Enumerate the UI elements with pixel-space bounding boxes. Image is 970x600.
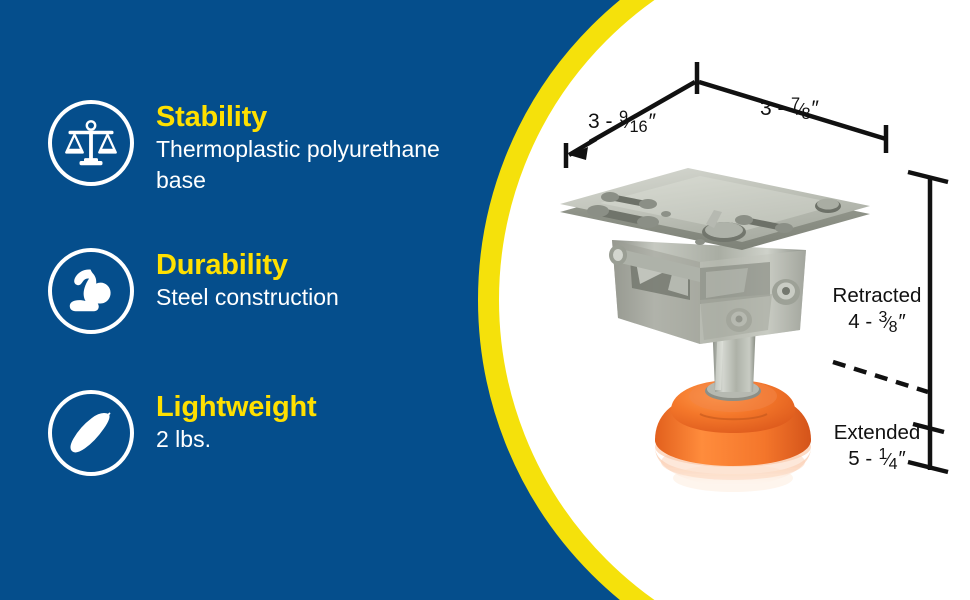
extended-value: 5 - 1⁄4″ (824, 446, 930, 474)
swivel-body (609, 240, 806, 344)
polyurethane-wheel-base (655, 380, 811, 466)
mounting-plate (560, 168, 870, 250)
dimension-label-top-right: 3 - 7⁄8″ (760, 97, 819, 121)
dimension-label-retracted: Retracted 4 - 3⁄8″ (824, 283, 930, 337)
retracted-value: 4 - 3⁄8″ (824, 309, 930, 337)
dimension-label-extended: Extended 5 - 1⁄4″ (824, 420, 930, 474)
extended-label: Extended (824, 420, 930, 446)
arrow-left (566, 139, 596, 168)
dashed-leader-line (833, 362, 928, 392)
dimension-label-top-left: 3 - 9⁄16″ (588, 110, 656, 134)
infographic-canvas: Stability Thermoplastic polyurethane bas… (0, 0, 970, 600)
retracted-label: Retracted (824, 283, 930, 309)
